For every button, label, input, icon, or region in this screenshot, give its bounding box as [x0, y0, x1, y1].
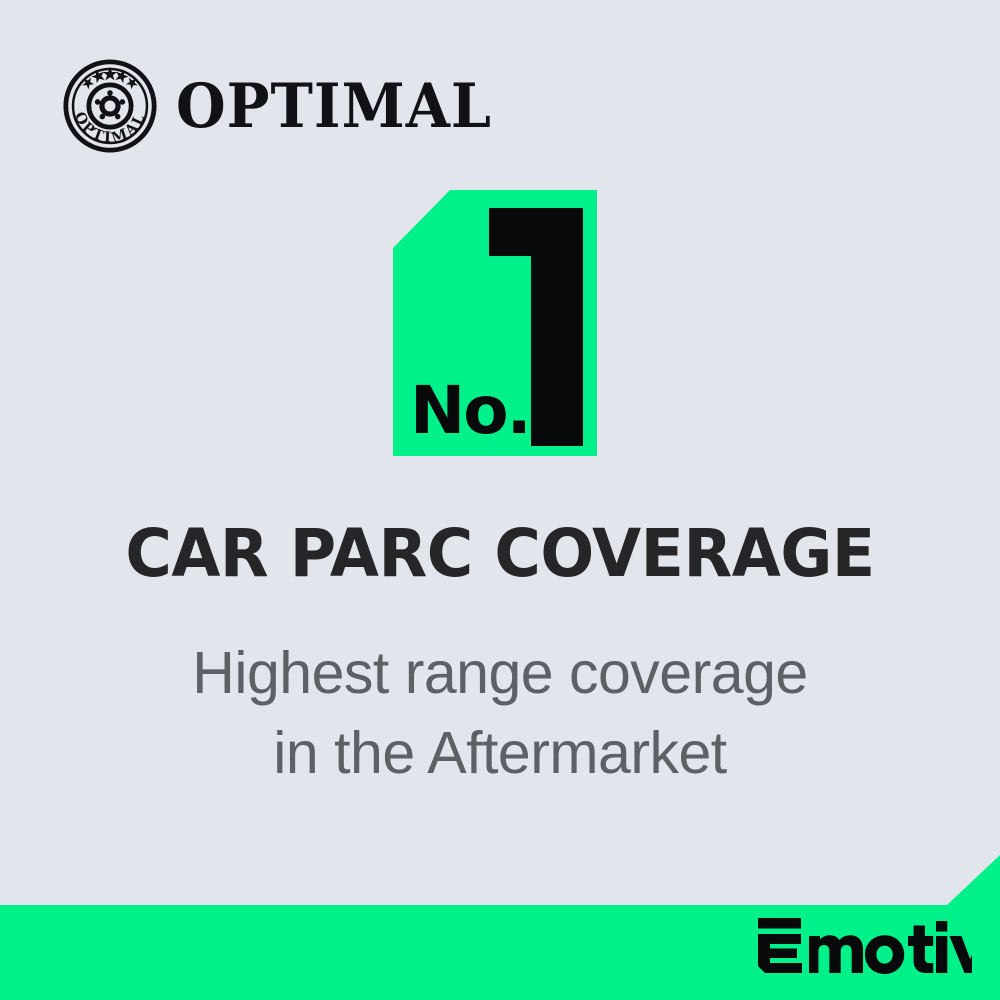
rank-badge: No. 1	[393, 190, 597, 456]
emblem-inner-label: OPTIMAL	[62, 154, 63, 155]
brand-wordmark: OPTIMAL	[176, 76, 492, 136]
subtitle-line-1: Highest range coverage	[0, 634, 1000, 714]
subtitle-line-2: in the Aftermarket	[0, 714, 1000, 794]
page-title: CAR PARC COVERAGE	[20, 519, 980, 588]
numeral-stem	[531, 208, 583, 446]
poster-canvas: OPTIMAL OPTIMAL OPTIMAL No. 1	[0, 0, 1000, 1000]
rank-number-glyph: 1	[489, 208, 583, 446]
page-subtitle: Highest range coverage in the Aftermarke…	[0, 634, 1000, 793]
emotive-wordmark-icon: Emotive	[756, 918, 972, 974]
brand-header: OPTIMAL OPTIMAL OPTIMAL	[62, 58, 492, 154]
optimal-wheel-emblem-icon: OPTIMAL OPTIMAL	[62, 58, 158, 154]
